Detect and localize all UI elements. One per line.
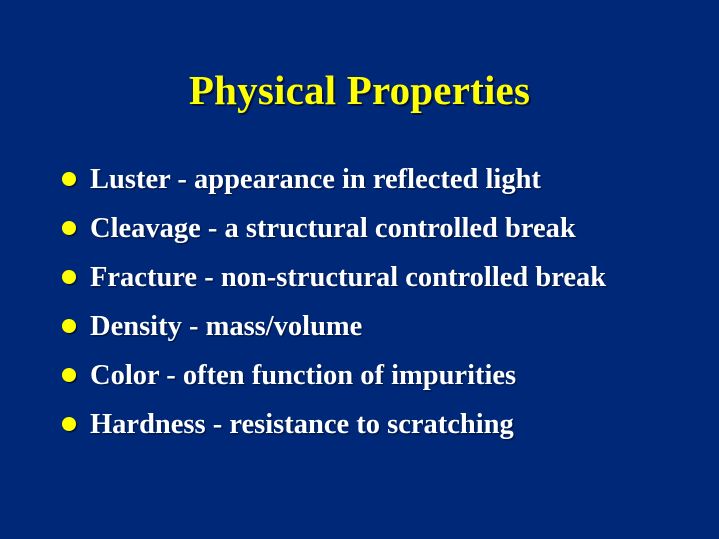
page-title: Physical Properties	[0, 66, 719, 114]
list-item: Fracture - non-structural controlled bre…	[58, 255, 688, 300]
bullet-dot-icon	[62, 417, 76, 431]
list-item: Density - mass/volume	[58, 304, 688, 349]
list-item-label: Fracture - non-structural controlled bre…	[90, 255, 688, 300]
list-item-label: Color - often function of impurities	[90, 353, 688, 398]
properties-bullet-list: Luster - appearance in reflected light C…	[58, 157, 688, 451]
list-item-label: Cleavage - a structural controlled break	[90, 206, 688, 251]
bullet-dot-icon	[62, 221, 76, 235]
list-item-label: Density - mass/volume	[90, 304, 688, 349]
list-item-label: Hardness - resistance to scratching	[90, 402, 688, 447]
presentation-slide: Physical Properties Luster - appearance …	[0, 0, 719, 539]
bullet-dot-icon	[62, 368, 76, 382]
list-item-label: Luster - appearance in reflected light	[90, 157, 688, 202]
list-item: Hardness - resistance to scratching	[58, 402, 688, 447]
list-item: Color - often function of impurities	[58, 353, 688, 398]
bullet-dot-icon	[62, 270, 76, 284]
list-item: Luster - appearance in reflected light	[58, 157, 688, 202]
bullet-dot-icon	[62, 172, 76, 186]
list-item: Cleavage - a structural controlled break	[58, 206, 688, 251]
bullet-dot-icon	[62, 319, 76, 333]
